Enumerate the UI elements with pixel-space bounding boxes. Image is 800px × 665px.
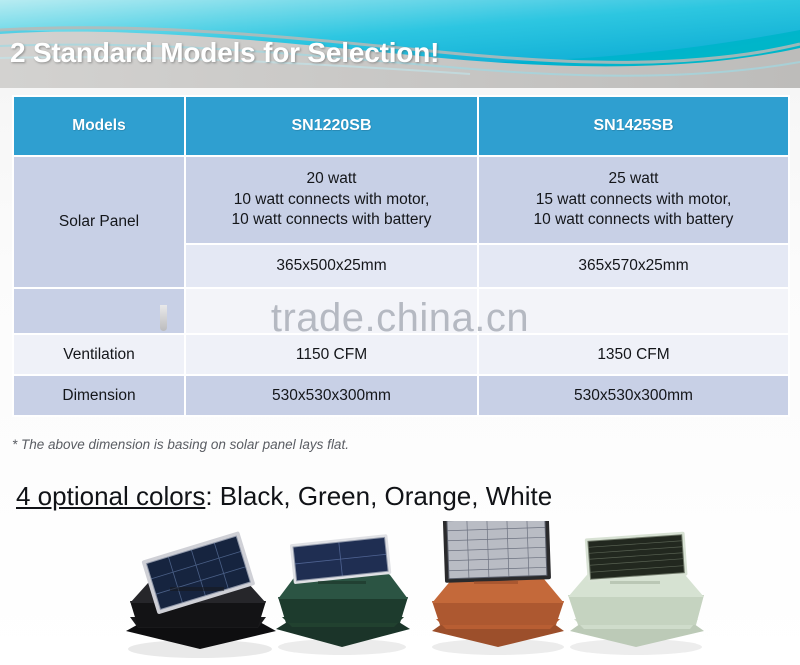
page-banner: 2 Standard Models for Selection! bbox=[0, 0, 800, 88]
header-sn1220sb: SN1220SB bbox=[185, 96, 478, 156]
product-image-green bbox=[262, 531, 422, 661]
product-image-black bbox=[108, 531, 288, 661]
optional-colors-note: 4 optional colors: Black, Green, Orange,… bbox=[16, 481, 552, 512]
cell-ventilation-sn1220sb: 1150 CFM bbox=[185, 334, 478, 375]
cell-dimension-sn1425sb: 530x530x300mm bbox=[478, 375, 789, 416]
product-spec-page: 2 Standard Models for Selection! Models … bbox=[0, 0, 800, 665]
spacer-cell-sn1220sb bbox=[185, 288, 478, 334]
table-header-row: Models SN1220SB SN1425SB bbox=[13, 96, 789, 156]
product-color-gallery bbox=[0, 520, 800, 665]
solar-panel-sn1425sb-line1: 25 watt bbox=[479, 169, 788, 189]
cell-panel-dimension-sn1220sb: 365x500x25mm bbox=[185, 244, 478, 288]
optional-colors-underlined: 4 optional colors bbox=[16, 481, 205, 511]
solar-panel-sn1425sb-line2: 15 watt connects with motor, bbox=[479, 190, 788, 210]
row-label-solar-panel: Solar Panel bbox=[13, 156, 185, 288]
header-sn1425sb: SN1425SB bbox=[478, 96, 789, 156]
table-row-ventilation: Ventilation 1150 CFM 1350 CFM bbox=[13, 334, 789, 375]
solar-panel-sn1425sb-line3: 10 watt connects with battery bbox=[479, 210, 788, 230]
product-image-white bbox=[548, 531, 723, 661]
cell-ventilation-sn1425sb: 1350 CFM bbox=[478, 334, 789, 375]
cell-dimension-sn1220sb: 530x530x300mm bbox=[185, 375, 478, 416]
table-artifact-nub bbox=[160, 305, 167, 331]
cell-panel-dimension-sn1425sb: 365x570x25mm bbox=[478, 244, 789, 288]
solar-panel-sn1220sb-line2: 10 watt connects with motor, bbox=[186, 190, 477, 210]
solar-panel-sn1220sb-line3: 10 watt connects with battery bbox=[186, 210, 477, 230]
table-row-watermark-spacer bbox=[13, 288, 789, 334]
table-row-solar-panel: Solar Panel 20 watt 10 watt connects wit… bbox=[13, 156, 789, 244]
table-row-dimension: Dimension 530x530x300mm 530x530x300mm bbox=[13, 375, 789, 416]
page-title: 2 Standard Models for Selection! bbox=[10, 37, 439, 69]
row-label-dimension: Dimension bbox=[13, 375, 185, 416]
header-models: Models bbox=[13, 96, 185, 156]
cell-solar-panel-sn1425sb: 25 watt 15 watt connects with motor, 10 … bbox=[478, 156, 789, 244]
optional-colors-list: : Black, Green, Orange, White bbox=[205, 481, 552, 511]
row-label-ventilation: Ventilation bbox=[13, 334, 185, 375]
dimension-footnote: * The above dimension is basing on solar… bbox=[12, 437, 349, 452]
solar-panel-sn1220sb-line1: 20 watt bbox=[186, 169, 477, 189]
spacer-cell-sn1425sb bbox=[478, 288, 789, 334]
cell-solar-panel-sn1220sb: 20 watt 10 watt connects with motor, 10 … bbox=[185, 156, 478, 244]
specification-table: Models SN1220SB SN1425SB Solar Panel 20 … bbox=[12, 95, 790, 417]
